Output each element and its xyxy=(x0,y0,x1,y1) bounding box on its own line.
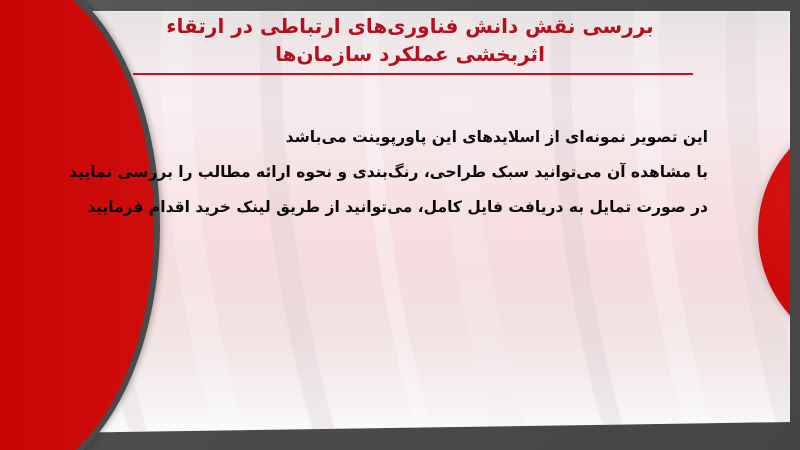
presentation-slide: بررسی نقش دانش فناوری‌های ارتباطی در ارت… xyxy=(0,0,800,450)
right-red-circle-decoration xyxy=(758,107,790,357)
slide-title-line-1: بررسی نقش دانش فناوری‌های ارتباطی در ارت… xyxy=(100,12,720,40)
slide-body-text: این تصویر نمونه‌ای از اسلایدهای این پاور… xyxy=(88,120,708,225)
body-line-1: این تصویر نمونه‌ای از اسلایدهای این پاور… xyxy=(88,120,708,155)
slide-title: بررسی نقش دانش فناوری‌های ارتباطی در ارت… xyxy=(100,12,720,68)
slide-title-line-2: اثربخشی عملکرد سازمان‌ها xyxy=(100,40,720,68)
body-line-2: با مشاهده آن می‌توانید سبک طراحی، رنگ‌بن… xyxy=(88,155,708,190)
body-line-3: در صورت تمایل به دریافت فایل کامل، می‌تو… xyxy=(88,190,708,225)
title-underline-rule xyxy=(133,73,693,75)
